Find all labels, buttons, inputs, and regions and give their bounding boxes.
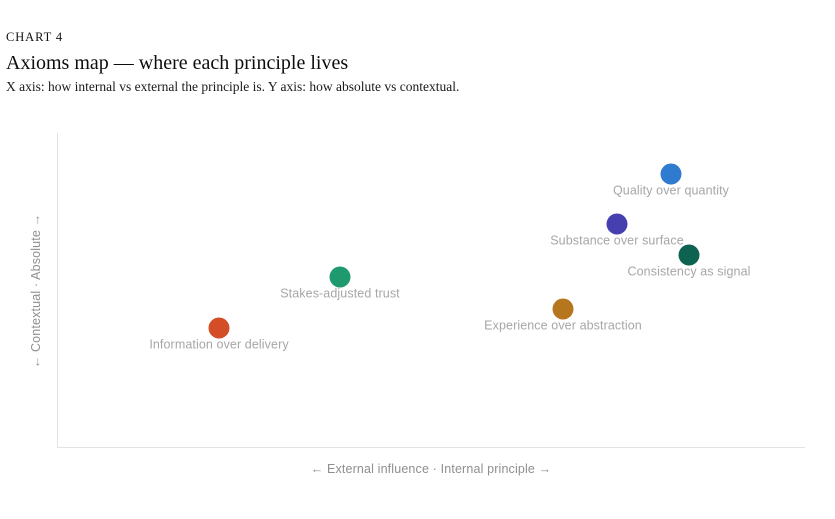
scatter-point-label: Substance over surface: [550, 234, 684, 249]
chart-header: CHART 4 Axioms map — where each principl…: [6, 30, 826, 96]
scatter-dot-marker: [553, 299, 574, 320]
scatter-dot-marker: [330, 267, 351, 288]
y-axis-label: ← Contextual · Absolute →: [29, 196, 43, 386]
scatter-plot-area: Quality over quantitySubstance over surf…: [58, 133, 805, 447]
scatter-point[interactable]: Experience over abstraction: [553, 299, 574, 320]
scatter-dot-marker: [607, 214, 628, 235]
scatter-point-label: Information over delivery: [149, 338, 288, 353]
scatter-point[interactable]: Information over delivery: [209, 318, 230, 339]
scatter-point[interactable]: Quality over quantity: [661, 164, 682, 185]
scatter-point-label: Stakes-adjusted trust: [280, 287, 400, 302]
page-title: Axioms map — where each principle lives: [6, 51, 826, 75]
chart-eyebrow: CHART 4: [6, 30, 826, 45]
scatter-point-label: Experience over abstraction: [484, 319, 642, 334]
x-axis-label: ← External influence · Internal principl…: [57, 462, 805, 476]
scatter-point[interactable]: Substance over surface: [607, 214, 628, 235]
scatter-point[interactable]: Consistency as signal: [679, 245, 700, 266]
scatter-point-label: Quality over quantity: [613, 184, 729, 199]
scatter-dot-marker: [679, 245, 700, 266]
plot-frame: Quality over quantitySubstance over surf…: [57, 133, 805, 448]
chart-subtitle: X axis: how internal vs external the pri…: [6, 79, 826, 96]
scatter-point[interactable]: Stakes-adjusted trust: [330, 267, 351, 288]
scatter-dot-marker: [661, 164, 682, 185]
scatter-point-label: Consistency as signal: [628, 265, 751, 280]
scatter-dot-marker: [209, 318, 230, 339]
